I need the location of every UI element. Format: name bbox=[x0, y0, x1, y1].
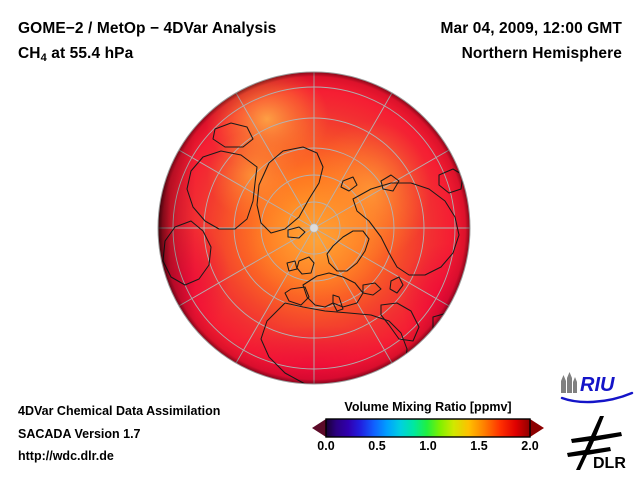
tick-label-0: 0.0 bbox=[317, 439, 334, 453]
header-left: GOME−2 / MetOp − 4DVar Analysis CH4 at 5… bbox=[18, 16, 276, 71]
riu-smokestacks-icon bbox=[561, 372, 577, 393]
colorbar: Volume Mixing Ratio [ppmv] bbox=[312, 400, 544, 455]
colorbar-gradient bbox=[326, 419, 530, 437]
colorbar-over-arrow bbox=[530, 419, 544, 437]
north-pole-marker bbox=[310, 224, 318, 232]
instrument-title: GOME−2 / MetOp − 4DVar Analysis bbox=[18, 16, 276, 41]
coastline-madagascar bbox=[421, 363, 435, 383]
tick-label-2: 1.0 bbox=[419, 439, 436, 453]
url-label[interactable]: http://wdc.dlr.de bbox=[18, 445, 220, 468]
tick-label-4: 2.0 bbox=[521, 439, 538, 453]
version-label: SACADA Version 1.7 bbox=[18, 423, 220, 446]
species-level-title: CH4 at 55.4 hPa bbox=[18, 41, 276, 71]
footer-left: 4DVar Chemical Data Assimilation SACADA … bbox=[18, 400, 220, 468]
colorbar-title: Volume Mixing Ratio [ppmv] bbox=[312, 400, 544, 414]
globe-map bbox=[157, 71, 471, 385]
globe-svg bbox=[157, 71, 471, 385]
dlr-logo-text: DLR bbox=[593, 455, 626, 472]
riu-logo: RIU bbox=[558, 371, 634, 405]
region-label: Northern Hemisphere bbox=[440, 41, 622, 66]
timestamp-label: Mar 04, 2009, 12:00 GMT bbox=[440, 16, 622, 41]
species-label: CH bbox=[18, 45, 41, 62]
tick-label-3: 1.5 bbox=[470, 439, 487, 453]
project-label: 4DVar Chemical Data Assimilation bbox=[18, 400, 220, 423]
colorbar-under-arrow bbox=[312, 419, 326, 437]
riu-logo-text: RIU bbox=[580, 374, 615, 396]
figure-canvas: GOME−2 / MetOp − 4DVar Analysis CH4 at 5… bbox=[0, 0, 640, 480]
dlr-logo: DLR bbox=[566, 414, 636, 472]
colorbar-tick-labels: 0.0 0.5 1.0 1.5 2.0 bbox=[312, 439, 544, 455]
header-right: Mar 04, 2009, 12:00 GMT Northern Hemisph… bbox=[440, 16, 622, 66]
tick-label-1: 0.5 bbox=[368, 439, 385, 453]
colorbar-svg bbox=[312, 418, 544, 438]
pressure-level-label: at 55.4 hPa bbox=[47, 45, 134, 62]
